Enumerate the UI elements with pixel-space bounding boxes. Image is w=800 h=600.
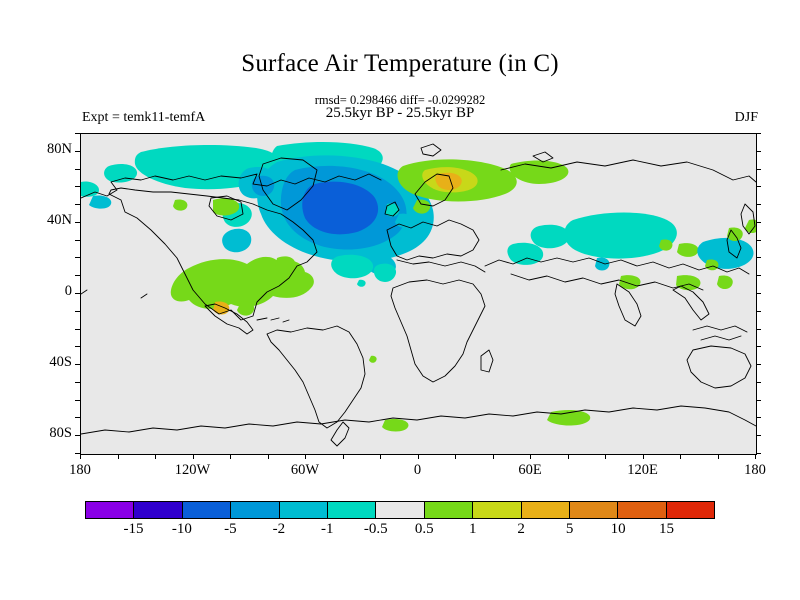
y-axis-tick bbox=[756, 275, 761, 276]
page-title: Surface Air Temperature (in C) bbox=[0, 50, 800, 78]
y-axis-tick bbox=[75, 151, 80, 152]
x-axis-tick bbox=[605, 454, 606, 459]
y-axis-tick bbox=[75, 346, 80, 347]
colorbar[interactable] bbox=[85, 501, 715, 519]
y-axis-tick bbox=[756, 151, 761, 152]
map-plot-area[interactable] bbox=[80, 133, 757, 455]
y-axis-tick bbox=[75, 364, 80, 365]
colorbar-band[interactable] bbox=[133, 502, 181, 518]
y-axis-tick bbox=[75, 133, 80, 134]
colorbar-band[interactable] bbox=[666, 502, 714, 518]
season-label: DJF bbox=[735, 110, 758, 126]
y-axis-tick bbox=[75, 169, 80, 170]
anomaly-region-newfoundland bbox=[222, 229, 251, 253]
x-axis-tick bbox=[155, 454, 156, 459]
y-axis-tick bbox=[756, 293, 761, 294]
y-axis-tick bbox=[756, 169, 761, 170]
y-axis-tick bbox=[756, 222, 761, 223]
y-axis-tick bbox=[756, 311, 761, 312]
y-axis-tick bbox=[756, 257, 761, 258]
colorbar-band[interactable] bbox=[472, 502, 520, 518]
y-axis-label: 80N bbox=[12, 141, 72, 158]
x-axis-tick bbox=[380, 454, 381, 459]
y-axis-tick bbox=[75, 204, 80, 205]
colorbar-band[interactable] bbox=[182, 502, 230, 518]
anomaly-region-antarctic-weddell bbox=[382, 419, 408, 432]
x-axis-tick bbox=[343, 454, 344, 459]
colorbar-band[interactable] bbox=[424, 502, 472, 518]
colorbar-band[interactable] bbox=[521, 502, 569, 518]
y-axis-tick bbox=[756, 204, 761, 205]
x-axis-label: 60E bbox=[500, 462, 560, 479]
y-axis-tick bbox=[756, 435, 761, 436]
anomaly-region-alaska-south bbox=[89, 195, 111, 208]
x-axis-tick bbox=[193, 454, 194, 459]
anomaly-region-canary bbox=[374, 264, 396, 282]
x-axis-tick bbox=[680, 454, 681, 459]
anomaly-region-west-siberia bbox=[564, 213, 677, 259]
x-axis-tick bbox=[118, 454, 119, 459]
x-axis-tick bbox=[755, 454, 756, 459]
y-axis-tick bbox=[75, 186, 80, 187]
y-axis-label: 0 bbox=[12, 283, 72, 300]
x-axis-label: 120W bbox=[163, 462, 223, 479]
anomaly-region-taiwan-green bbox=[705, 259, 718, 270]
anomaly-region-urals-cyan bbox=[531, 225, 570, 249]
y-axis-tick bbox=[75, 222, 80, 223]
anomaly-region-china-green bbox=[717, 276, 733, 289]
anomaly-region-barents-green bbox=[510, 161, 569, 184]
y-axis-tick bbox=[75, 311, 80, 312]
anomaly-region-ne-china bbox=[659, 239, 672, 250]
y-axis-tick bbox=[75, 329, 80, 330]
y-axis-tick bbox=[75, 275, 80, 276]
x-axis-label: 180 bbox=[725, 462, 785, 479]
y-axis-tick bbox=[756, 240, 761, 241]
anomaly-region-caspian-cyan bbox=[507, 243, 543, 265]
y-axis-label: 40N bbox=[12, 212, 72, 229]
x-axis-tick bbox=[230, 454, 231, 459]
y-axis-label: 80S bbox=[12, 425, 72, 442]
y-axis-tick bbox=[75, 293, 80, 294]
y-axis-tick bbox=[756, 417, 761, 418]
world-map-svg bbox=[81, 134, 756, 454]
anomaly-region-amazon-cyan bbox=[357, 280, 366, 287]
anomaly-region-manchuria bbox=[677, 243, 699, 257]
y-axis-tick bbox=[75, 257, 80, 258]
x-axis-label: 0 bbox=[388, 462, 448, 479]
colorbar-band[interactable] bbox=[375, 502, 423, 518]
x-axis-tick bbox=[493, 454, 494, 459]
colorbar-band[interactable] bbox=[279, 502, 327, 518]
experiment-label: Expt = temk11-temfA bbox=[82, 110, 205, 126]
x-axis-tick bbox=[530, 454, 531, 459]
anomaly-region-nw-canada-green bbox=[173, 199, 187, 210]
y-axis-label: 40S bbox=[12, 354, 72, 371]
y-axis-tick bbox=[756, 346, 761, 347]
y-axis-tick bbox=[756, 453, 761, 454]
x-axis-label: 180 bbox=[50, 462, 110, 479]
colorbar-band[interactable] bbox=[327, 502, 375, 518]
x-axis-tick bbox=[455, 454, 456, 459]
anomaly-shading-layer bbox=[81, 142, 756, 431]
x-axis-tick bbox=[418, 454, 419, 459]
anomaly-region-tibet-green bbox=[676, 275, 700, 290]
y-axis-tick bbox=[75, 382, 80, 383]
x-axis-tick bbox=[268, 454, 269, 459]
colorbar-tick-label: 15 bbox=[637, 521, 697, 538]
y-axis-tick bbox=[756, 382, 761, 383]
x-axis-tick bbox=[643, 454, 644, 459]
anomaly-region-central-asia-small bbox=[595, 257, 609, 270]
x-axis-tick bbox=[568, 454, 569, 459]
y-axis-tick bbox=[756, 133, 761, 134]
y-axis-tick bbox=[756, 400, 761, 401]
y-axis-tick bbox=[75, 417, 80, 418]
y-axis-tick bbox=[756, 186, 761, 187]
y-axis-tick bbox=[75, 400, 80, 401]
x-axis-tick bbox=[80, 454, 81, 459]
y-axis-tick bbox=[756, 329, 761, 330]
anomaly-region-azores bbox=[331, 255, 373, 279]
colorbar-band[interactable] bbox=[617, 502, 665, 518]
colorbar-band[interactable] bbox=[230, 502, 278, 518]
x-axis-tick bbox=[305, 454, 306, 459]
x-axis-label: 120E bbox=[613, 462, 673, 479]
x-axis-label: 60W bbox=[275, 462, 335, 479]
y-axis-tick bbox=[75, 240, 80, 241]
colorbar-band[interactable] bbox=[86, 502, 133, 518]
y-axis-tick bbox=[756, 364, 761, 365]
colorbar-band[interactable] bbox=[569, 502, 617, 518]
x-axis-tick bbox=[718, 454, 719, 459]
y-axis-tick bbox=[75, 435, 80, 436]
y-axis-tick bbox=[75, 453, 80, 454]
anomaly-region-patagonia-dot bbox=[369, 356, 377, 363]
